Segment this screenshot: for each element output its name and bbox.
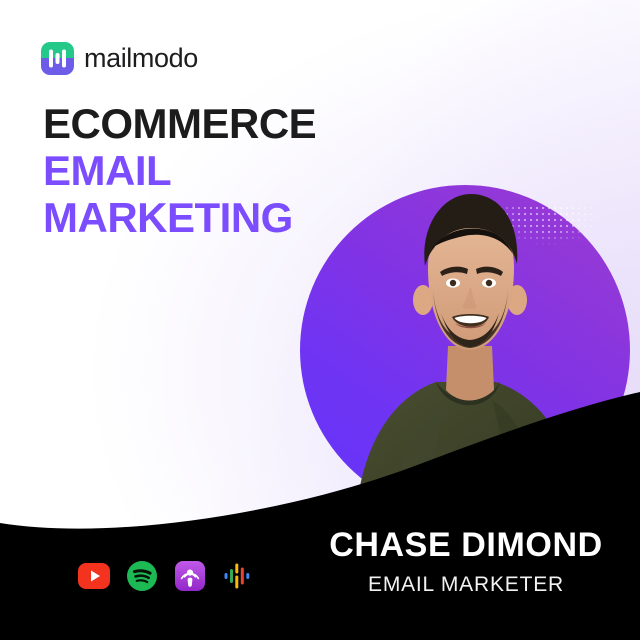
- google-podcasts-icon[interactable]: [222, 560, 254, 592]
- youtube-icon[interactable]: [78, 560, 110, 592]
- brand-logo[interactable]: mailmodo: [41, 42, 198, 75]
- speaker-info: CHASE DIMOND EMAIL MARKETER: [316, 528, 616, 597]
- spotify-icon[interactable]: [126, 560, 158, 592]
- headline-line-1: ECOMMERCE: [43, 100, 363, 147]
- speaker-name: CHASE DIMOND: [316, 528, 616, 564]
- mailmodo-logo-icon: [41, 42, 74, 75]
- apple-podcasts-icon[interactable]: [174, 560, 206, 592]
- platform-icon-row: [78, 560, 254, 592]
- brand-wordmark: mailmodo: [84, 45, 198, 72]
- headline-block: ECOMMERCE EMAIL MARKETING: [43, 100, 363, 241]
- headline-line-2: EMAIL: [43, 147, 363, 194]
- promo-poster: mailmodo ECOMMERCE EMAIL MARKETING CHASE…: [0, 0, 640, 640]
- speaker-role: EMAIL MARKETER: [316, 572, 616, 597]
- headline-line-3: MARKETING: [43, 194, 363, 241]
